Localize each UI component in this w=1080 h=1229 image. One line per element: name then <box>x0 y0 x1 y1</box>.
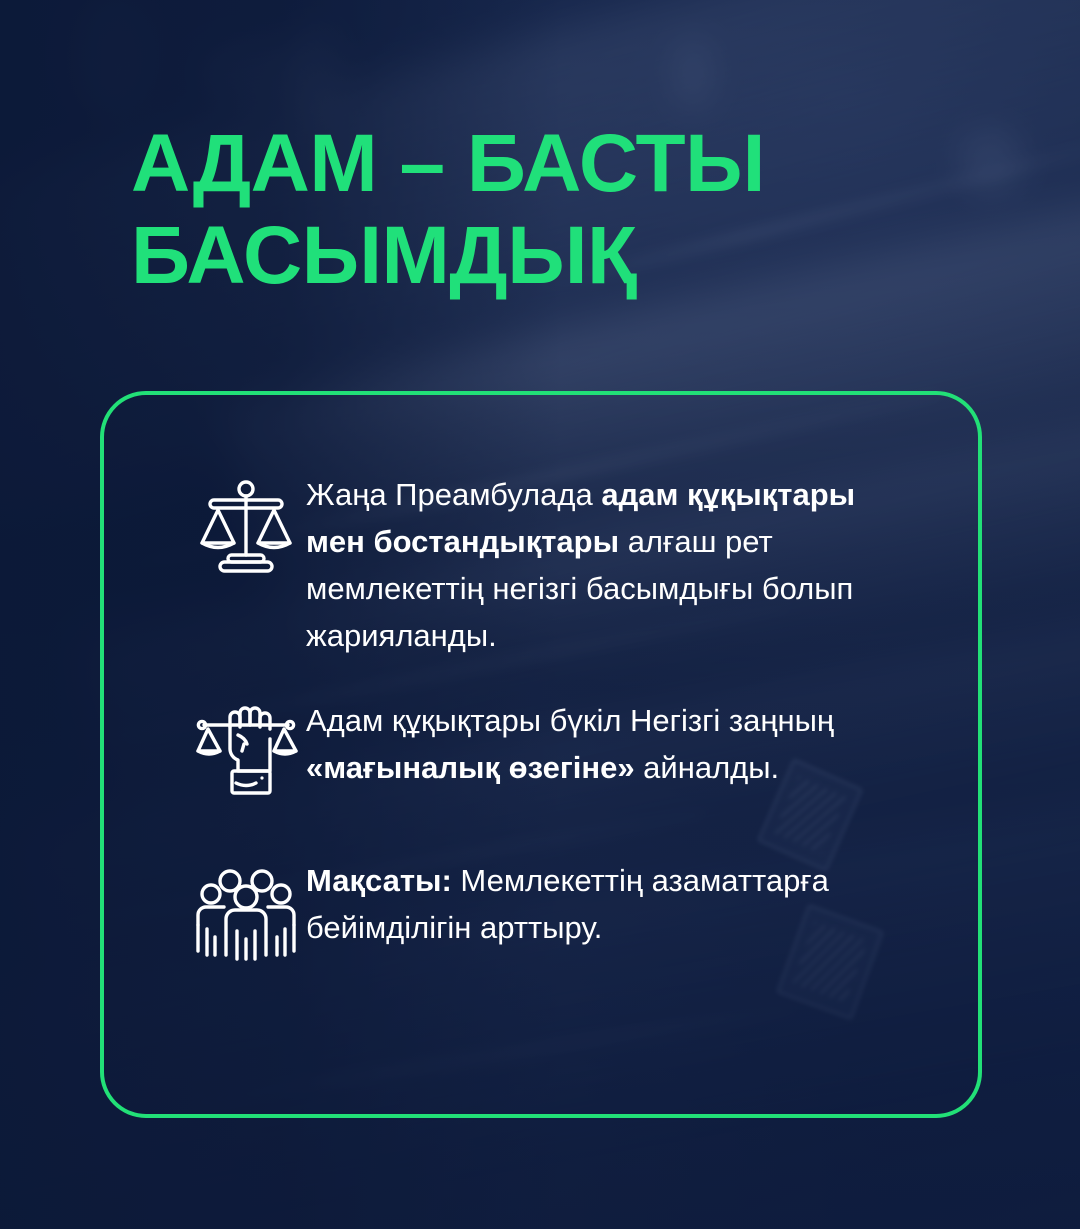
highlights-card: Жаңа Преамбулада адам құқықтары мен бост… <box>100 391 982 1118</box>
text-segment-bold: «мағыналық өзегіне» <box>306 750 635 785</box>
text-segment: Жаңа Преамбулада <box>306 477 601 512</box>
bokeh-highlight <box>72 0 150 116</box>
bokeh-highlight <box>286 24 342 124</box>
list-item-text: Адам құқықтары бүкіл Негізгі заңның «мағ… <box>306 695 918 791</box>
bokeh-highlight <box>672 36 714 110</box>
list-item: Адам құқықтары бүкіл Негізгі заңның «мағ… <box>104 695 978 819</box>
raised-fist-scales-icon <box>186 695 306 819</box>
highlights-list: Жаңа Преамбулада адам құқықтары мен бост… <box>104 395 978 979</box>
list-item: Мақсаты: Мемлекеттің азаматтарға бейімді… <box>104 855 978 979</box>
page-title: АДАМ – БАСТЫ БАСЫМДЫҚ <box>131 118 911 302</box>
list-item-text: Мақсаты: Мемлекеттің азаматтарға бейімді… <box>306 855 918 951</box>
bokeh-highlight <box>958 128 1024 194</box>
list-item-text: Жаңа Преамбулада адам құқықтары мен бост… <box>306 469 918 659</box>
balance-scales-icon <box>186 469 306 593</box>
bokeh-highlight <box>196 40 316 106</box>
list-item: Жаңа Преамбулада адам құқықтары мен бост… <box>104 469 978 659</box>
text-segment: Адам құқықтары бүкіл Негізгі заңның <box>306 703 834 738</box>
group-of-people-icon <box>186 855 306 979</box>
text-segment: айналды. <box>635 750 780 785</box>
text-segment-bold: Мақсаты: <box>306 863 452 898</box>
poster-canvas: АДАМ – БАСТЫ БАСЫМДЫҚ <box>0 0 1080 1229</box>
